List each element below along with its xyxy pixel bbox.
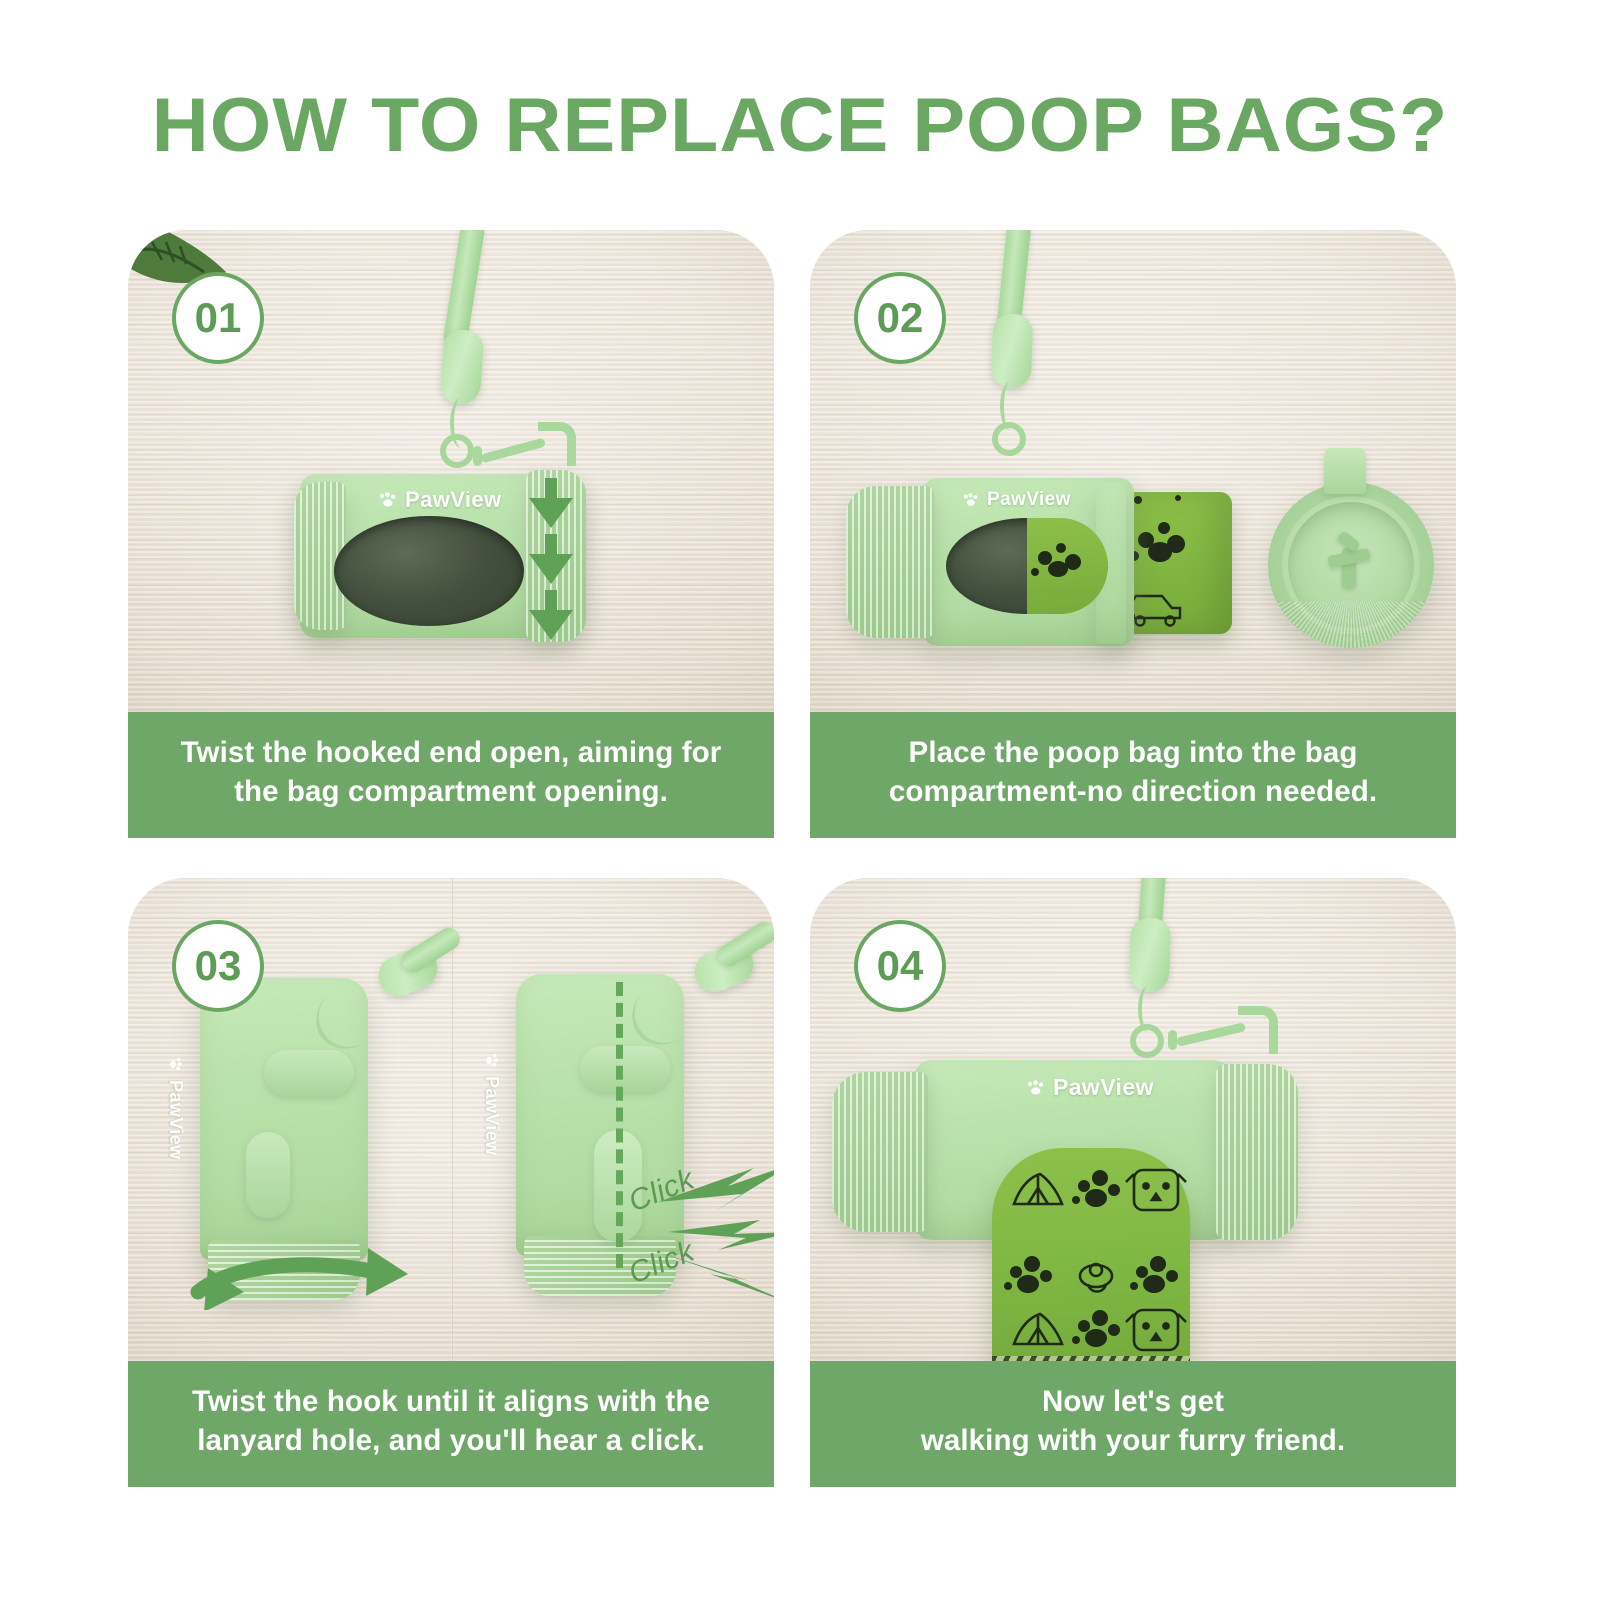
paw-icon bbox=[1130, 1256, 1178, 1293]
lanyard-tip-icon bbox=[439, 329, 484, 406]
hook-arm-end-icon bbox=[473, 446, 482, 466]
alignment-dashed-line bbox=[616, 982, 623, 1268]
hook-arm-icon bbox=[1176, 1022, 1246, 1047]
brand-logo: PawView bbox=[962, 489, 1071, 511]
step-badge-4: 04 bbox=[854, 920, 946, 1012]
brand-name: PawView bbox=[481, 1076, 502, 1156]
paw-icon bbox=[1026, 1080, 1046, 1096]
lanyard-hole-tab bbox=[580, 1046, 670, 1092]
lid-hook-tab bbox=[1324, 448, 1366, 494]
click-bolt-3 bbox=[652, 1236, 774, 1308]
brand-logo: PawView bbox=[1026, 1074, 1154, 1101]
step-number-4: 04 bbox=[877, 942, 924, 990]
caption-line: lanyard hole, and you'll hear a click. bbox=[197, 1422, 705, 1461]
paw-icon bbox=[962, 493, 980, 507]
pacifier-icon bbox=[1080, 1264, 1112, 1292]
lanyard-ring-icon bbox=[992, 422, 1026, 456]
bag-in-window bbox=[1027, 518, 1108, 614]
step-badge-3: 03 bbox=[172, 920, 264, 1012]
tent-icon bbox=[1014, 1174, 1062, 1204]
caption-line: Now let's get bbox=[1042, 1383, 1224, 1422]
caption-line: Place the poop bag into the bag bbox=[909, 734, 1358, 773]
step-badge-2: 02 bbox=[854, 272, 946, 364]
hook-arm-icon bbox=[480, 438, 546, 464]
hook-arm-end-icon bbox=[1168, 1030, 1177, 1050]
step-caption-4: Now let's get walking with your furry fr… bbox=[810, 1361, 1456, 1487]
dog-face-icon bbox=[1126, 1170, 1186, 1210]
step-number-1: 01 bbox=[195, 294, 242, 342]
lanyard-ring-icon bbox=[440, 434, 474, 468]
lanyard-tip-icon bbox=[991, 313, 1034, 388]
step-badge-1: 01 bbox=[172, 272, 264, 364]
caption-line: walking with your furry friend. bbox=[921, 1422, 1345, 1461]
caption-line: Twist the hook until it aligns with the bbox=[192, 1383, 710, 1422]
step-caption-3: Twist the hook until it aligns with the … bbox=[128, 1361, 774, 1487]
paw-icon bbox=[378, 492, 398, 508]
step-caption-2: Place the poop bag into the bag compartm… bbox=[810, 712, 1456, 838]
page-title: HOW TO REPLACE POOP BAGS? bbox=[0, 82, 1600, 169]
brand-name: PawView bbox=[1053, 1074, 1154, 1101]
dispenser-ribbed-cap-right bbox=[1216, 1064, 1298, 1240]
paw-icon bbox=[485, 1052, 498, 1069]
caption-line: the bag compartment opening. bbox=[234, 773, 668, 812]
caption-line: Twist the hooked end open, aiming for bbox=[181, 734, 722, 773]
bag-window-pattern bbox=[1027, 518, 1108, 614]
paw-icon bbox=[1072, 1170, 1120, 1207]
bag-window bbox=[334, 516, 524, 626]
dispenser-ribbed-cap-left bbox=[832, 1072, 928, 1232]
brand-name: PawView bbox=[987, 489, 1071, 511]
brand-name: PawView bbox=[405, 487, 502, 513]
brand-logo: PawView bbox=[378, 487, 502, 513]
dog-face-icon bbox=[1126, 1310, 1186, 1350]
bag-pattern-icons bbox=[992, 1148, 1190, 1380]
lanyard-ring-icon bbox=[1130, 1024, 1164, 1058]
step-number-3: 03 bbox=[195, 942, 242, 990]
tent-icon bbox=[1014, 1314, 1062, 1344]
lanyard-tip-icon bbox=[1129, 917, 1172, 992]
step-caption-1: Twist the hooked end open, aiming for th… bbox=[128, 712, 774, 838]
step-number-2: 02 bbox=[877, 294, 924, 342]
dispenser-ribbed-cap-left bbox=[846, 486, 934, 638]
caption-line: compartment-no direction needed. bbox=[889, 773, 1377, 812]
brand-logo: PawView bbox=[481, 1052, 502, 1156]
paw-icon bbox=[1072, 1310, 1120, 1347]
paw-icon bbox=[1004, 1256, 1052, 1293]
